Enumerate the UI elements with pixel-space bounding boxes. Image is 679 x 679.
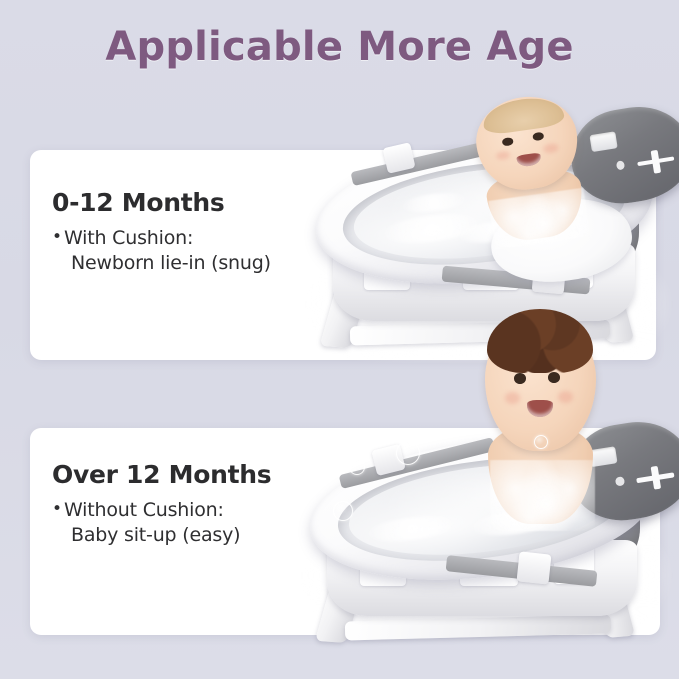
- baby-head: [485, 317, 596, 451]
- card-bullet-line-2: Baby sit-up (easy): [64, 524, 240, 546]
- card-text-block: 0-12 Months • With Cushion: Newborn lie-…: [52, 188, 372, 277]
- baby-hair: [480, 94, 564, 136]
- card-bullet: • With Cushion: Newborn lie-in (snug): [52, 226, 372, 277]
- baby-mouth: [516, 152, 542, 167]
- baby-hair: [487, 309, 593, 373]
- baby-eye: [532, 132, 544, 141]
- card-bullet-line-1: Without Cushion:: [64, 499, 224, 521]
- indicator-dot-icon: [614, 476, 624, 487]
- card-text-block: Over 12 Months • Without Cushion: Baby s…: [52, 460, 372, 549]
- baby-eye: [501, 138, 513, 147]
- baby-mouth: [527, 400, 554, 417]
- baby-cheek: [558, 391, 574, 403]
- baby-sitting: [467, 291, 613, 507]
- baby-cheek: [505, 392, 521, 404]
- infographic-root: Applicable More Age 0-12 Months • With C…: [0, 0, 679, 679]
- card-bullet-line-2: Newborn lie-in (snug): [64, 252, 271, 274]
- card-bullet: • Without Cushion: Baby sit-up (easy): [52, 498, 372, 549]
- page-title: Applicable More Age: [0, 24, 679, 70]
- card-bullet-line-1: With Cushion:: [64, 227, 193, 249]
- card-heading: Over 12 Months: [52, 460, 372, 489]
- baby-eye: [548, 372, 560, 383]
- card-bullet-lines: Without Cushion: Baby sit-up (easy): [64, 498, 372, 549]
- baby-foam: [490, 460, 595, 532]
- indicator-dot-icon: [615, 160, 625, 171]
- bullet-dot-icon: •: [52, 498, 64, 521]
- card-bullet-lines: With Cushion: Newborn lie-in (snug): [64, 226, 372, 277]
- cross-icon: [633, 462, 678, 493]
- baby-cheek: [543, 143, 558, 153]
- tub-leg-crossbar: [345, 615, 612, 641]
- cross-icon: [633, 146, 677, 177]
- tub-rim-clip: [517, 552, 552, 585]
- baby-lying: [452, 71, 604, 236]
- baby-eye: [514, 373, 526, 384]
- baby-cheek: [495, 151, 510, 161]
- bullet-dot-icon: •: [52, 226, 64, 249]
- card-heading: 0-12 Months: [52, 188, 372, 217]
